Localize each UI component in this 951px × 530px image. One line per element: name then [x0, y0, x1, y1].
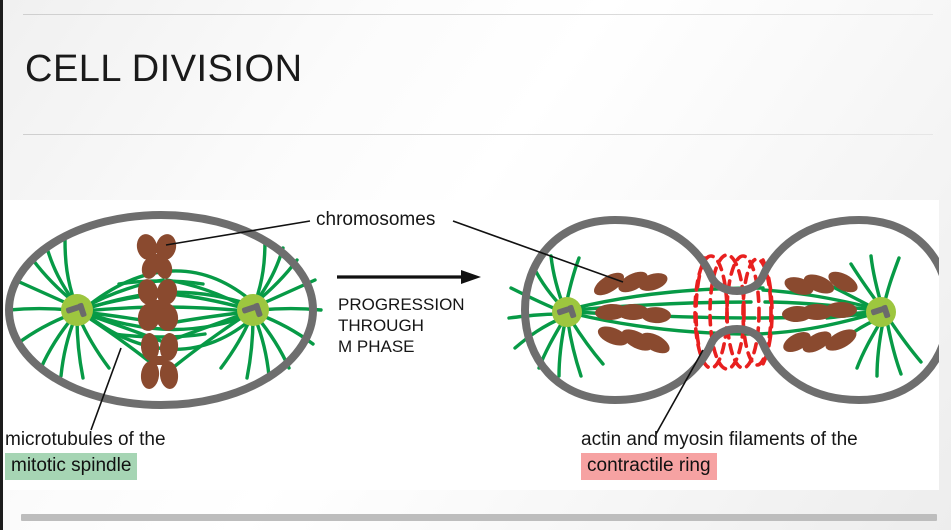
right-cell-centrosome-right: [866, 297, 896, 327]
caption-line-through: THROUGH: [338, 315, 465, 336]
right-caption-highlight: contractile ring: [581, 453, 717, 480]
progression-caption: PROGRESSION THROUGH M PHASE: [338, 294, 465, 357]
header-rule-bottom: [23, 134, 933, 135]
right-cell-group: [509, 220, 939, 400]
right-cell-left-chromosomes: [590, 267, 673, 357]
progression-arrow: [337, 270, 481, 284]
caption-line-m-phase: M PHASE: [338, 336, 465, 357]
left-cell-centrosome-left: [61, 294, 93, 326]
left-cell-chromosomes: [135, 232, 181, 390]
page-title: CELL DIVISION: [25, 48, 303, 91]
caption-line-progression: PROGRESSION: [338, 294, 465, 315]
right-cell-centrosome-left: [552, 297, 582, 327]
slide-canvas: CELL DIVISION: [0, 0, 951, 530]
left-caption-highlight: mitotic spindle: [5, 453, 137, 480]
right-cell-right-chromosomes: [780, 267, 861, 357]
header-rule-top: [23, 14, 933, 15]
right-caption-line1: actin and myosin filaments of the: [581, 429, 858, 451]
left-cell-centrosome-right: [237, 294, 269, 326]
left-caption-line1: microtubules of the: [5, 429, 166, 451]
label-chromosomes: chromosomes: [316, 209, 435, 231]
bottom-scrollbar[interactable]: [21, 514, 937, 521]
left-cell-group: [9, 215, 321, 405]
